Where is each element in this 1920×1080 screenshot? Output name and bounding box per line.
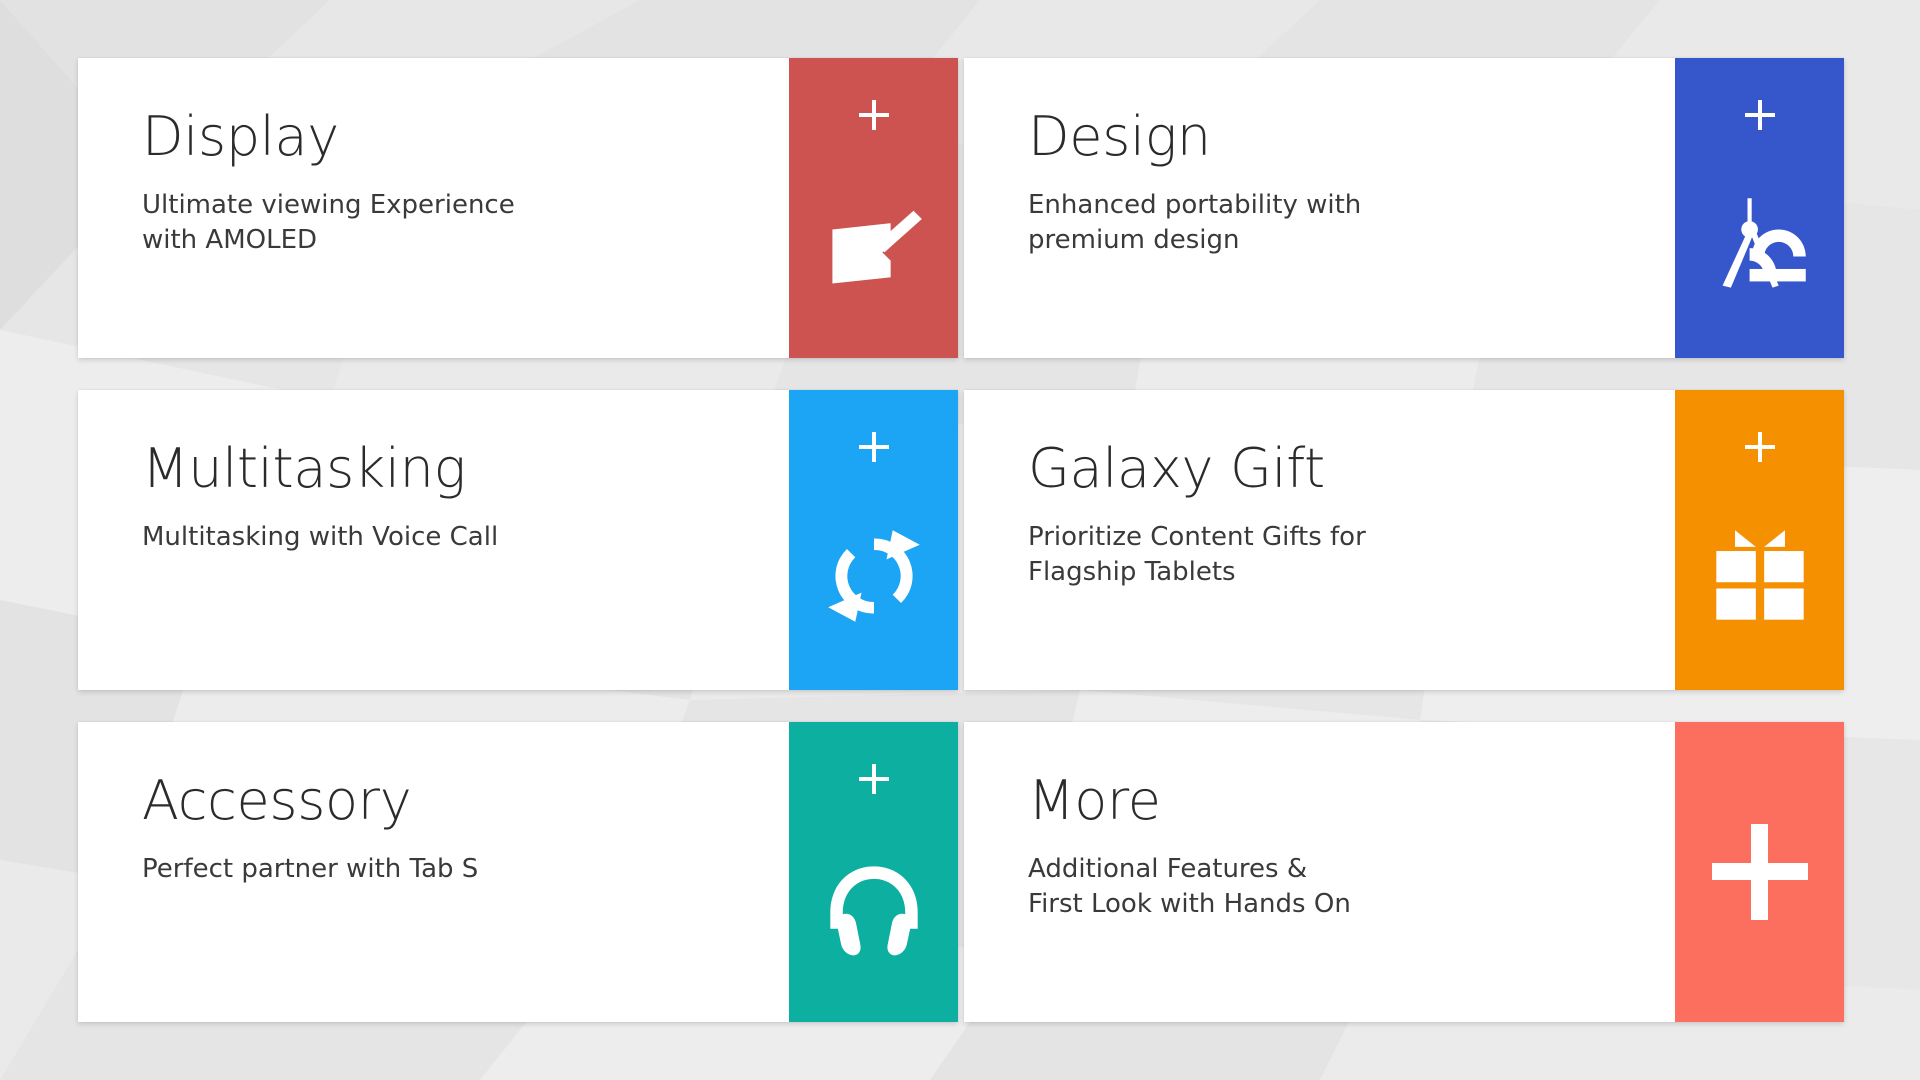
gift-box-icon [1708,524,1812,628]
feature-card-accessory[interactable]: Accessory Perfect partner with Tab S [78,722,958,1022]
feature-card-grid: Display Ultimate viewing Experience with… [78,58,1844,1023]
card-title: Accessory [142,772,789,830]
card-accent-tile-display[interactable] [789,58,958,358]
card-subtitle: Additional Features & First Look with Ha… [1028,852,1675,921]
card-accent-tile-accessory[interactable] [789,722,958,1022]
card-accent-tile-more[interactable] [1675,722,1844,1022]
card-subtitle: Enhanced portability with premium design [1028,188,1675,257]
card-text-block: Design Enhanced portability with premium… [964,58,1675,358]
card-text-block: Galaxy Gift Prioritize Content Gifts for… [964,390,1675,690]
card-title: More [1028,772,1675,830]
card-title: Display [142,108,789,166]
card-subtitle: Perfect partner with Tab S [142,852,789,886]
feature-card-more[interactable]: More Additional Features & First Look wi… [964,722,1844,1022]
feature-card-display[interactable]: Display Ultimate viewing Experience with… [78,58,958,358]
compass-protractor-icon [1708,192,1812,296]
plus-large-icon[interactable] [1712,824,1808,920]
card-title: Design [1028,108,1675,166]
paintbrush-canvas-icon [822,192,926,296]
card-accent-tile-multitasking[interactable] [789,390,958,690]
plus-icon[interactable] [859,764,889,794]
card-text-block: Multitasking Multitasking with Voice Cal… [78,390,789,690]
card-subtitle: Prioritize Content Gifts for Flagship Ta… [1028,520,1675,589]
card-accent-tile-galaxy-gift[interactable] [1675,390,1844,690]
card-title: Multitasking [142,440,789,498]
card-subtitle: Ultimate viewing Experience with AMOLED [142,188,789,257]
card-accent-tile-design[interactable] [1675,58,1844,358]
headphones-icon [822,856,926,960]
feature-card-design[interactable]: Design Enhanced portability with premium… [964,58,1844,358]
plus-icon[interactable] [1745,432,1775,462]
card-text-block: More Additional Features & First Look wi… [964,722,1675,1022]
plus-icon[interactable] [1745,100,1775,130]
card-subtitle: Multitasking with Voice Call [142,520,789,554]
card-title: Galaxy Gift [1028,440,1675,498]
plus-icon[interactable] [859,432,889,462]
refresh-sync-icon [822,524,926,628]
feature-card-multitasking[interactable]: Multitasking Multitasking with Voice Cal… [78,390,958,690]
card-text-block: Display Ultimate viewing Experience with… [78,58,789,358]
card-text-block: Accessory Perfect partner with Tab S [78,722,789,1022]
feature-card-galaxy-gift[interactable]: Galaxy Gift Prioritize Content Gifts for… [964,390,1844,690]
plus-icon[interactable] [859,100,889,130]
